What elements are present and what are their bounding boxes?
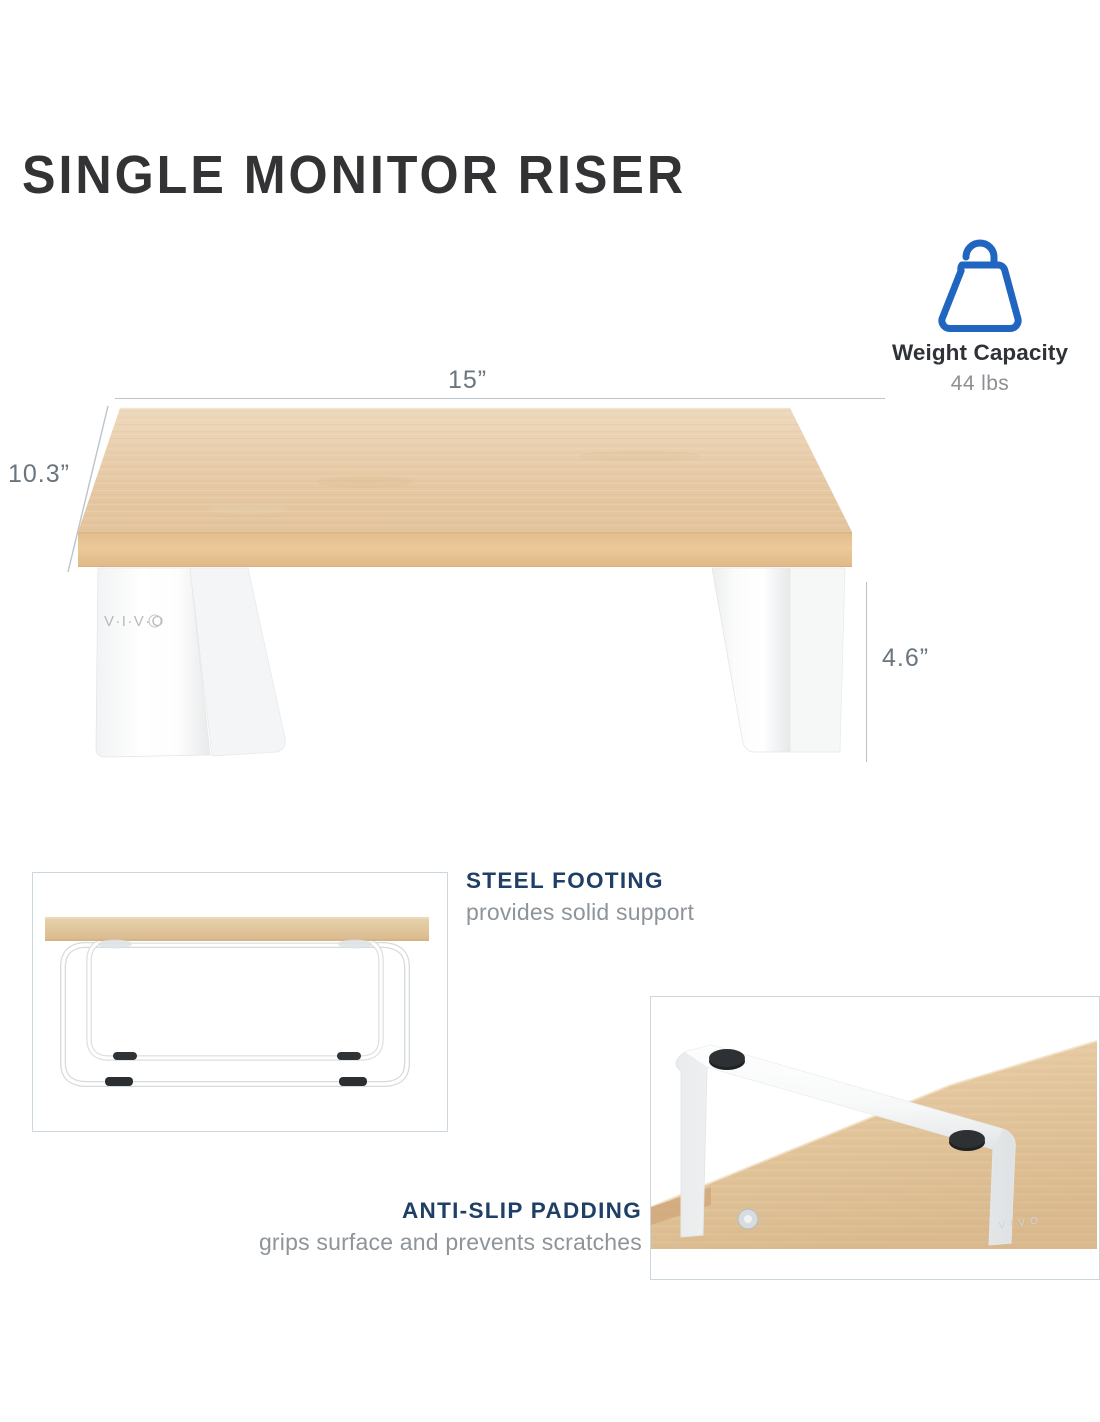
hero-product-scene: 15” 10.3” 4.6” (0, 360, 1100, 810)
rubber-foot (105, 1077, 133, 1086)
anti-slip-pad (949, 1130, 985, 1148)
feature-subtext: grips surface and prevents scratches (259, 1229, 642, 1256)
rubber-foot (113, 1052, 137, 1060)
feature-image-anti-slip-padding: V·I·V·O (650, 996, 1100, 1280)
page-title: SINGLE MONITOR RISER (22, 144, 686, 206)
monitor-riser-illustration: V·I·V·O (0, 360, 1100, 810)
feature-image-steel-footing (32, 872, 448, 1132)
rubber-foot (337, 1052, 361, 1060)
feature-heading: STEEL FOOTING (466, 868, 694, 894)
weight-icon-wrap (862, 228, 1098, 338)
feature-heading: ANTI-SLIP PADDING (259, 1198, 642, 1224)
anti-slip-pad (709, 1049, 745, 1067)
caption-steel-footing: STEEL FOOTING provides solid support (466, 868, 694, 926)
rubber-foot (339, 1077, 367, 1086)
weight-icon (928, 227, 1032, 340)
feature-subtext: provides solid support (466, 899, 694, 926)
caption-anti-slip-padding: ANTI-SLIP PADDING grips surface and prev… (259, 1198, 642, 1256)
